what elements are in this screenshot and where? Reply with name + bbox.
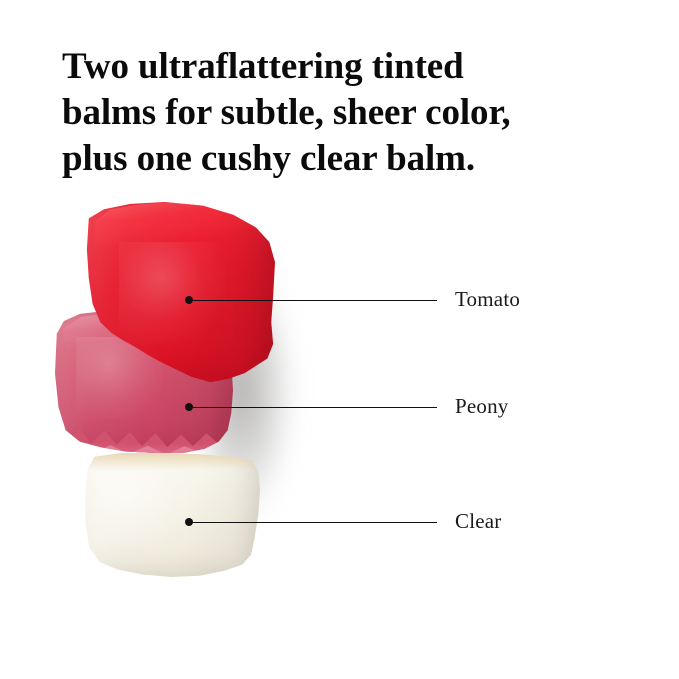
page-title: Two ultraflattering tinted balms for sub… (62, 44, 622, 182)
balm-tomato-highlight (119, 242, 225, 344)
balm-clear-top-edge (87, 453, 254, 470)
balm-clear (82, 453, 260, 577)
balm-clear-highlight (96, 470, 189, 547)
product-feature-image: Two ultraflattering tinted balms for sub… (0, 0, 679, 679)
callout-leader-line (189, 522, 437, 523)
callout-leader-line (189, 300, 437, 301)
callout-label-clear: Clear (455, 509, 501, 534)
balm-tomato-top-ridge (89, 202, 271, 264)
callout-label-peony: Peony (455, 394, 509, 419)
callout-label-tomato: Tomato (455, 287, 520, 312)
callout-leader-line (189, 407, 437, 408)
product-image (0, 185, 420, 605)
